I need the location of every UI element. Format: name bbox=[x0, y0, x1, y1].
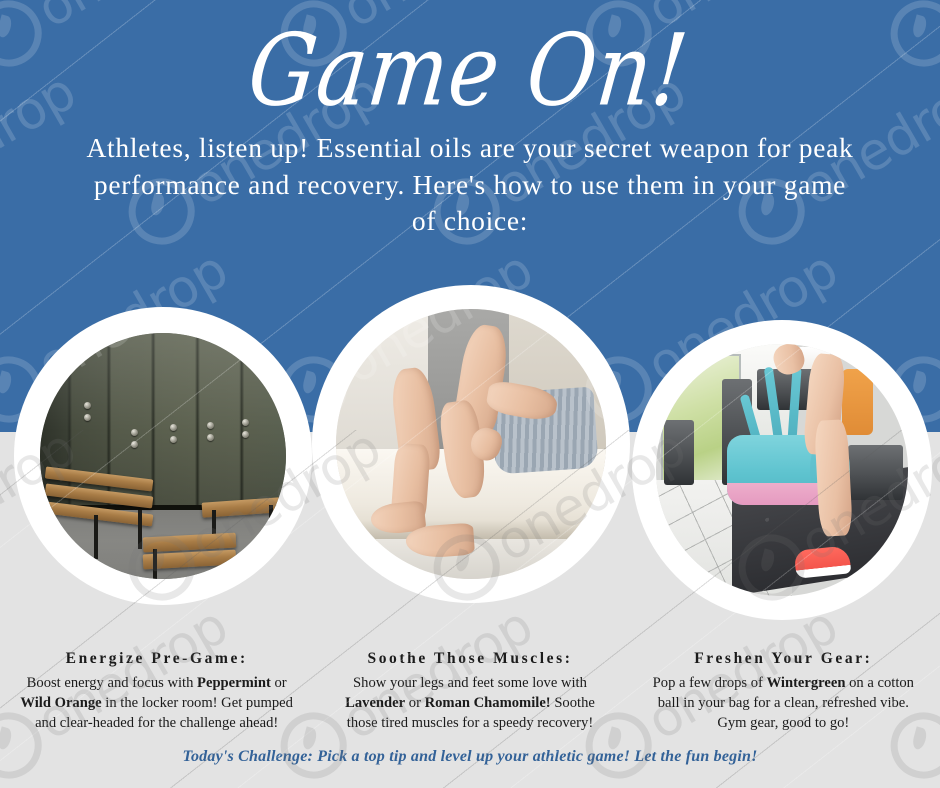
bench-leg bbox=[138, 510, 142, 549]
bench-leg bbox=[153, 549, 157, 579]
poster-canvas: Game On! Athletes, listen up! Essential … bbox=[0, 0, 940, 788]
running-shoe bbox=[793, 545, 851, 578]
tip-title: Soothe Those Muscles: bbox=[331, 650, 608, 668]
tip-body: Boost energy and focus with Peppermint o… bbox=[18, 674, 295, 734]
tip-title: Freshen Your Gear: bbox=[645, 650, 922, 668]
tip-column-freshen: Freshen Your Gear: Pop a few drops of Wi… bbox=[627, 650, 940, 734]
photo-circle-gym-gear bbox=[632, 320, 932, 620]
tip-body: Show your legs and feet some love with L… bbox=[331, 674, 608, 734]
photo-locker-room bbox=[40, 333, 286, 579]
footer: Today's Challenge: Pick a top tip and le… bbox=[0, 748, 940, 766]
locker-lock-icon bbox=[207, 422, 214, 429]
tip-column-energize: Energize Pre-Game: Boost energy and focu… bbox=[0, 650, 313, 734]
gym-machine bbox=[848, 445, 903, 500]
gym-machine bbox=[664, 420, 694, 486]
photo-circle-muscle-recovery bbox=[312, 285, 630, 603]
gym-orange-equipment bbox=[842, 369, 872, 435]
bench-leg bbox=[269, 505, 273, 537]
leg-front bbox=[814, 419, 853, 536]
page-subtitle: Athletes, listen up! Essential oils are … bbox=[0, 110, 940, 240]
photo-circle-locker-room bbox=[14, 307, 312, 605]
tip-column-soothe: Soothe Those Muscles: Show your legs and… bbox=[313, 650, 626, 734]
bench-leg bbox=[94, 515, 98, 559]
photo-muscle-recovery bbox=[336, 309, 606, 579]
locker-lock-icon bbox=[131, 429, 138, 436]
tip-title: Energize Pre-Game: bbox=[18, 650, 295, 668]
page-title: Game On! bbox=[0, 0, 940, 120]
photo-gym-gear bbox=[656, 344, 908, 596]
tips-row: Energize Pre-Game: Boost energy and focu… bbox=[0, 650, 940, 734]
header-block: Game On! Athletes, listen up! Essential … bbox=[0, 0, 940, 240]
locker-lock-icon bbox=[242, 419, 249, 426]
tip-body: Pop a few drops of Wintergreen on a cott… bbox=[645, 674, 922, 734]
challenge-text: Today's Challenge: Pick a top tip and le… bbox=[0, 748, 940, 766]
